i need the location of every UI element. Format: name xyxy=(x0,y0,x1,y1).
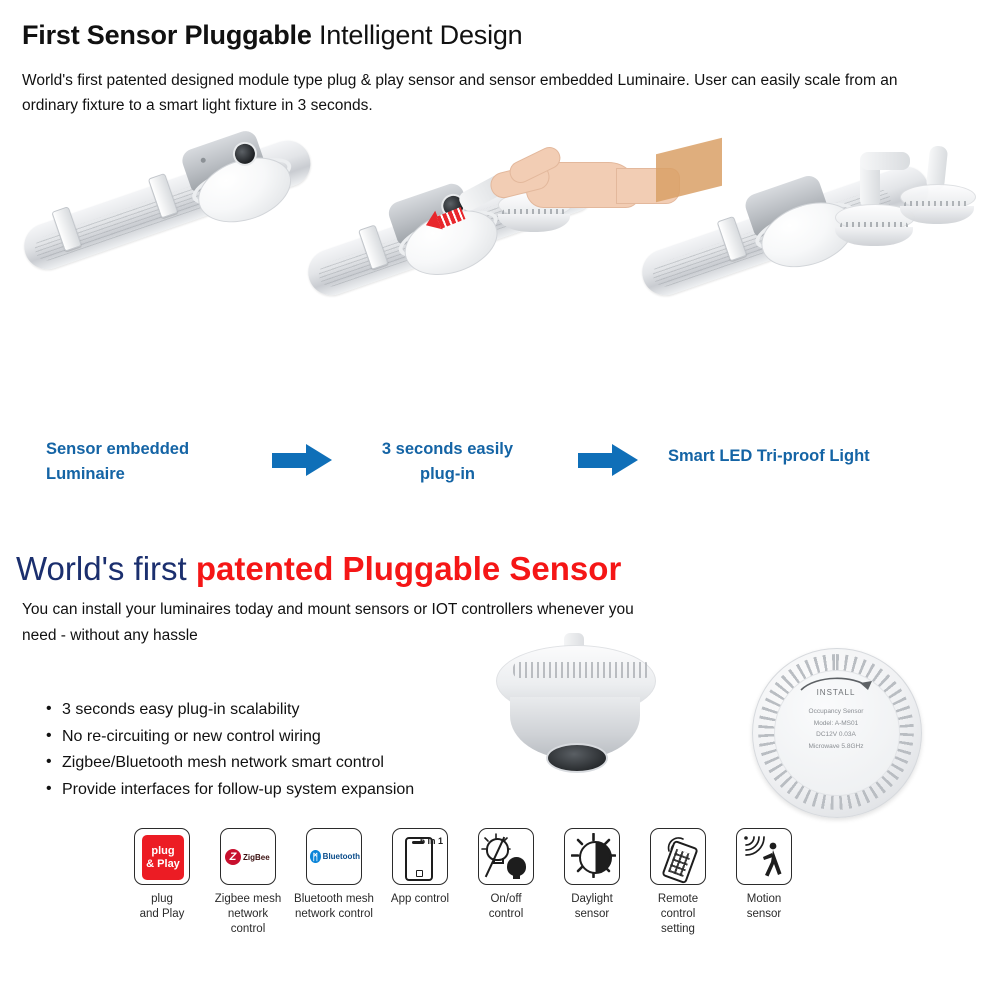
bluetooth-wordmark: Bluetooth xyxy=(323,852,360,861)
feature-caption: App control xyxy=(377,892,463,907)
bluetooth-logo: ᛗ Bluetooth xyxy=(310,850,360,863)
feature-caption: Motion sensor xyxy=(721,892,807,922)
section2-title-red: patented Pluggable Sensor xyxy=(196,550,621,587)
sensor-puck-mounted-2 xyxy=(900,184,974,228)
list-item: Zigbee/Bluetooth mesh network smart cont… xyxy=(46,750,516,777)
feature-caption: Remote control setting xyxy=(635,892,721,937)
sensor-spec-label: Occupancy Sensor Model: A-MS01 DC12V 0.0… xyxy=(778,706,894,752)
list-item: No re-circuiting or new control wiring xyxy=(46,724,516,751)
zigbee-icon: Z ZigBee xyxy=(220,828,276,885)
feature-bluetooth: ᛗ Bluetooth Bluetooth mesh network contr… xyxy=(291,828,377,922)
wall-panel xyxy=(656,138,722,202)
feature-caption: Zigbee mesh network control xyxy=(205,892,291,937)
feature-app-control: 5 in 1 App control xyxy=(377,828,463,907)
zigbee-mark: Z xyxy=(225,849,241,865)
puck-skirt xyxy=(835,227,913,246)
puck-skirt xyxy=(498,214,570,232)
sensor-vents xyxy=(513,662,651,678)
spec-line-3: DC12V 0.03A xyxy=(778,729,894,741)
workflow-step-1: Sensor embedded Luminaire xyxy=(46,437,256,487)
plug-and-play-icon: plug& Play xyxy=(134,828,190,885)
spec-line-1: Occupancy Sensor xyxy=(778,706,894,718)
product-infographic-page: First Sensor Pluggable Intelligent Desig… xyxy=(0,0,1000,987)
intro-paragraph: World's first patented designed module t… xyxy=(22,68,952,118)
page-title: First Sensor Pluggable Intelligent Desig… xyxy=(22,20,523,51)
feature-zigbee: Z ZigBee Zigbee mesh network control xyxy=(205,828,291,937)
spec-line-4: Microwave 5.8GHz xyxy=(778,741,894,753)
arrow-right-icon xyxy=(272,444,332,476)
sun-half-icon xyxy=(579,841,612,874)
feature-caption: plug and Play xyxy=(119,892,205,922)
puck-skirt xyxy=(900,206,974,224)
sensor-stalk-arm xyxy=(860,152,910,170)
bluetooth-mark: ᛗ xyxy=(310,850,321,863)
feature-icon-strip: plug& Play plug and Play Z ZigBee Zigbee… xyxy=(0,828,1000,958)
fixture-photo-plug-in xyxy=(330,140,675,395)
product-photo-row xyxy=(0,140,1000,395)
bluetooth-icon: ᛗ Bluetooth xyxy=(306,828,362,885)
feature-on-off-control: On/off control xyxy=(463,828,549,922)
on-off-control-icon xyxy=(478,828,534,885)
motion-sensor-icon xyxy=(736,828,792,885)
fixture-photo-smart-light xyxy=(660,140,1000,395)
feature-caption: On/off control xyxy=(463,892,549,922)
signal-badge: 5 in 1 xyxy=(420,836,443,846)
fixture-photo-sensor-embedded xyxy=(8,140,338,395)
feature-remote-control: Remote control setting xyxy=(635,828,721,937)
spec-line-2: Model: A-MS01 xyxy=(778,718,894,730)
plug-play-line1: plug xyxy=(151,845,174,857)
plug-play-line2: & Play xyxy=(146,858,180,870)
list-item: 3 seconds easy plug-in scalability xyxy=(46,697,516,724)
arrow-right-icon xyxy=(578,444,638,476)
daylight-sensor-icon xyxy=(564,828,620,885)
feature-bullet-list: 3 seconds easy plug-in scalability No re… xyxy=(46,697,516,803)
sensor-photo-side-view xyxy=(490,645,660,795)
workflow-step-3: Smart LED Tri-proof Light xyxy=(668,444,988,469)
feature-motion-sensor: Motion sensor xyxy=(721,828,807,922)
feature-plug-and-play: plug& Play plug and Play xyxy=(119,828,205,922)
page-title-bold: First Sensor Pluggable xyxy=(22,20,312,50)
feature-caption: Daylight sensor xyxy=(549,892,635,922)
workflow-step-2: 3 seconds easily plug-in xyxy=(360,437,535,487)
page-title-light: Intelligent Design xyxy=(312,20,523,50)
section2-title-blue: World's first xyxy=(16,550,196,587)
section2-title: World's first patented Pluggable Sensor xyxy=(16,550,621,588)
workflow-row: Sensor embedded Luminaire 3 seconds easi… xyxy=(0,430,1000,500)
sensor-photo-label-view: INSTALL Occupancy Sensor Model: A-MS01 D… xyxy=(752,648,920,816)
walking-person-icon xyxy=(761,842,783,878)
remote-keypad xyxy=(668,849,691,877)
zigbee-wordmark: ZigBee xyxy=(243,853,270,862)
list-item: Provide interfaces for follow-up system … xyxy=(46,777,516,804)
plug-play-badge: plug& Play xyxy=(142,835,184,880)
install-text: INSTALL xyxy=(778,688,894,697)
section2-subtitle: You can install your luminaires today an… xyxy=(22,597,642,649)
feature-daylight-sensor: Daylight sensor xyxy=(549,828,635,922)
feature-caption: Bluetooth mesh network control xyxy=(291,892,377,922)
remote-control-icon xyxy=(650,828,706,885)
zigbee-logo: Z ZigBee xyxy=(225,849,273,865)
sensor-lens xyxy=(546,743,608,773)
bulb-off-icon xyxy=(507,857,526,876)
app-control-icon: 5 in 1 xyxy=(392,828,448,885)
